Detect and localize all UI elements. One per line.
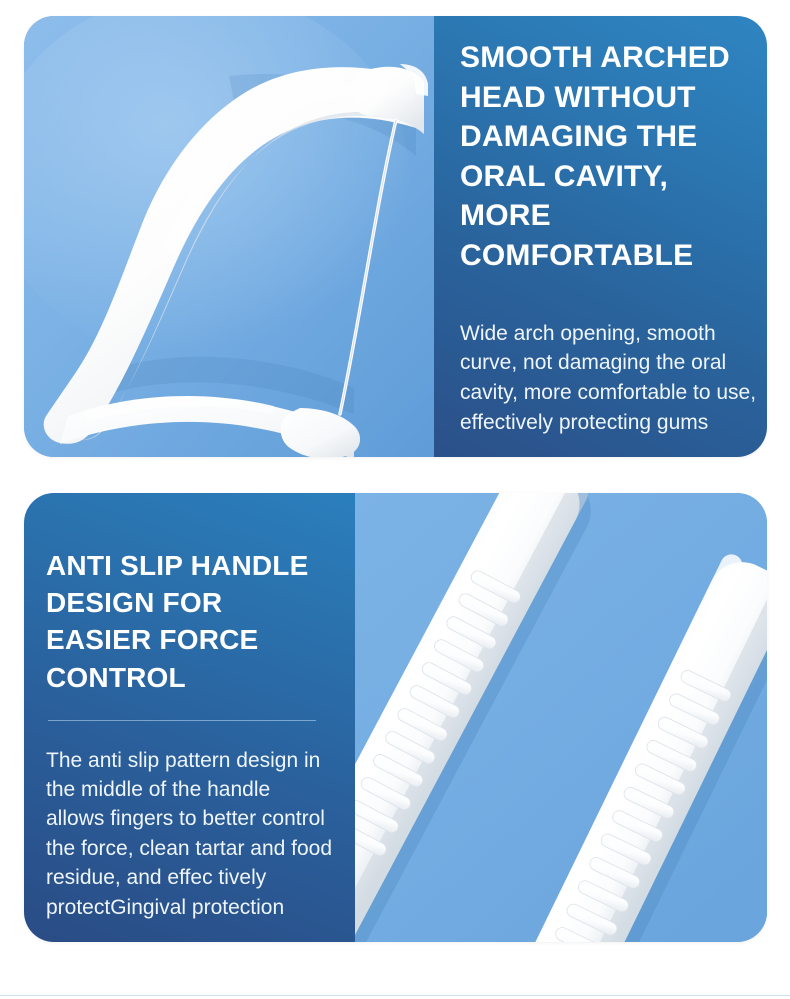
product-photo-anti-slip-handles	[355, 493, 767, 942]
feature-text-pane-anti-slip: ANTI SLIP HANDLE DESIGN FOR EASIER FORCE…	[24, 493, 355, 942]
panel-1-headline: SMOOTH ARCHED HEAD WITHOUT DAMAGING THE …	[460, 38, 762, 276]
feature-text-pane-arched-head: SMOOTH ARCHED HEAD WITHOUT DAMAGING THE …	[434, 16, 767, 457]
handle-grip-illustration	[355, 493, 767, 942]
bottom-hairline-divider	[0, 995, 790, 996]
panel-1-body-text: Wide arch opening, smooth curve, not dam…	[460, 319, 762, 438]
product-photo-arched-head	[24, 16, 434, 457]
feature-card-anti-slip-handle: ANTI SLIP HANDLE DESIGN FOR EASIER FORCE…	[24, 493, 767, 942]
feature-card-arched-head: SMOOTH ARCHED HEAD WITHOUT DAMAGING THE …	[24, 16, 767, 457]
panel-2-body-text: The anti slip pattern design in the midd…	[46, 746, 333, 922]
panel-2-divider	[48, 720, 316, 721]
floss-pick-illustration	[24, 16, 434, 457]
panel-2-headline: ANTI SLIP HANDLE DESIGN FOR EASIER FORCE…	[46, 547, 333, 696]
